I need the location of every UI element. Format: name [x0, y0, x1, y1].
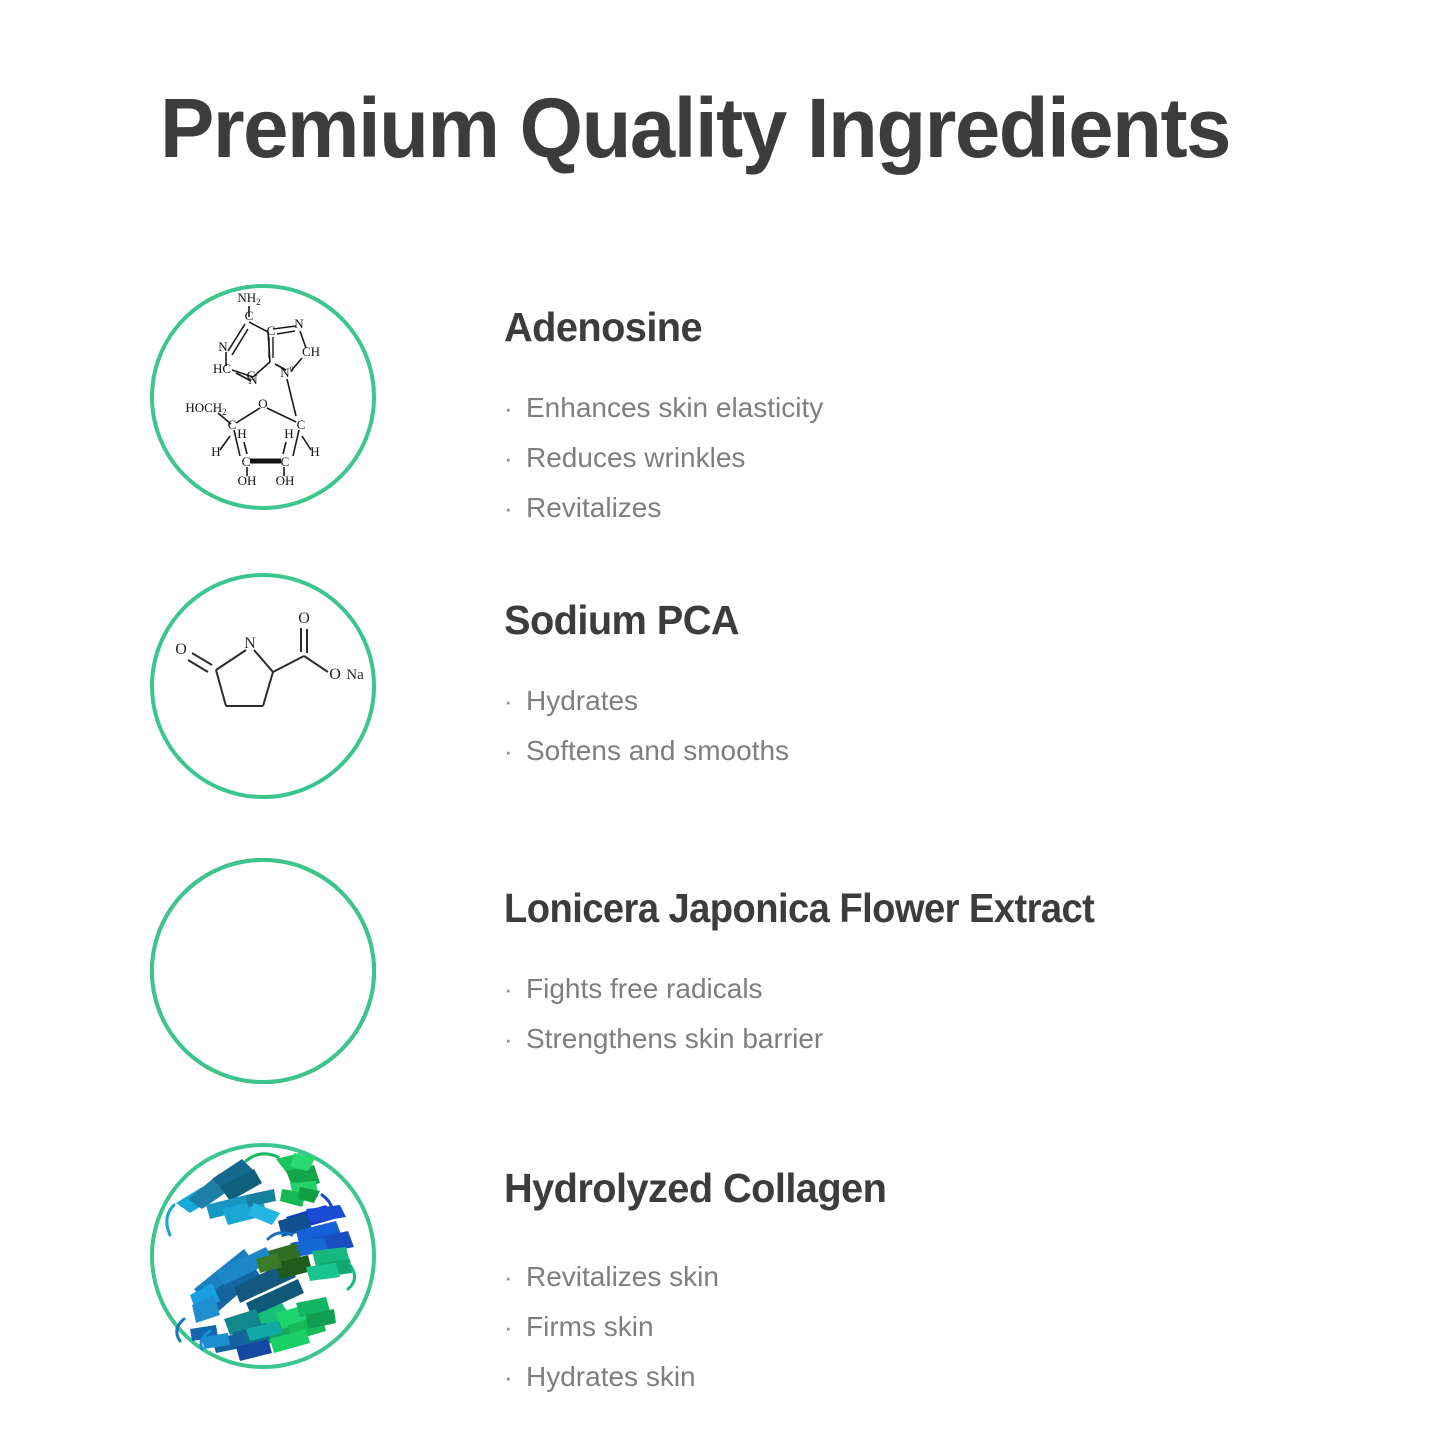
benefit-text: Hydrates [526, 681, 638, 720]
list-item: · Fights free radicals [504, 969, 1364, 1008]
bullet-icon: · [504, 971, 526, 1007]
svg-text:HOCH2: HOCH2 [185, 400, 226, 417]
svg-text:Na: Na [346, 667, 364, 683]
svg-text:C: C [297, 417, 306, 432]
svg-text:O: O [258, 396, 267, 411]
bullet-icon: · [504, 490, 526, 526]
svg-text:NH2: NH2 [237, 290, 260, 307]
svg-text:CH: CH [302, 344, 320, 359]
list-item: · Enhances skin elasticity [504, 388, 1364, 427]
collagen-text: Hydrolyzed Collagen · Revitalizes skin ·… [504, 1166, 1364, 1408]
page-title: Premium Quality Ingredients [160, 84, 1285, 172]
benefit-text: Fights free radicals [526, 969, 763, 1008]
svg-text:N: N [294, 316, 304, 331]
collagen-media [150, 1143, 376, 1369]
adenosine-text: Adenosine · Enhances skin elasticity · R… [504, 305, 1364, 539]
list-item: · Reduces wrinkles [504, 438, 1364, 477]
list-item: · Firms skin [504, 1307, 1364, 1346]
lonicera-media [150, 858, 376, 1084]
collagen-ribbon-icon [150, 1143, 376, 1369]
svg-text:O: O [329, 666, 341, 683]
sodium-pca-media: O N O O Na [150, 573, 376, 799]
svg-text:HC: HC [213, 361, 231, 376]
benefit-text: Revitalizes skin [526, 1257, 719, 1296]
benefit-list: · Revitalizes skin · Firms skin · Hydrat… [504, 1257, 1364, 1397]
list-item: · Revitalizes skin [504, 1257, 1364, 1296]
ingredients-infographic: Premium Quality Ingredients [0, 0, 1445, 1445]
svg-text:O: O [298, 610, 310, 627]
svg-text:H: H [237, 426, 246, 441]
adenosine-media: NH2 N C C C HC N N CH N9 HOCH2 O C C C C [150, 284, 376, 510]
benefit-list: · Fights free radicals · Strengthens ski… [504, 969, 1364, 1058]
svg-text:H: H [211, 444, 220, 459]
svg-text:H: H [284, 426, 293, 441]
bullet-icon: · [504, 440, 526, 476]
ingredient-title: Hydrolyzed Collagen [504, 1166, 1338, 1211]
bullet-icon: · [504, 683, 526, 719]
svg-text:N: N [248, 372, 258, 387]
accent-circle-border [150, 858, 376, 1084]
benefit-text: Firms skin [526, 1307, 654, 1346]
ingredient-title: Lonicera Japonica Flower Extract [504, 886, 1304, 931]
list-item: · Softens and smooths [504, 731, 1364, 770]
adenosine-molecule-icon: NH2 N C C C HC N N CH N9 HOCH2 O C C C C [150, 284, 376, 510]
bullet-icon: · [504, 1259, 526, 1295]
list-item: · Revitalizes [504, 488, 1364, 527]
svg-text:C: C [267, 323, 276, 338]
svg-text:O: O [175, 641, 187, 658]
svg-text:C: C [281, 454, 290, 469]
list-item: · Hydrates skin [504, 1357, 1364, 1396]
svg-text:H: H [310, 444, 319, 459]
svg-text:N: N [218, 339, 228, 354]
benefit-text: Hydrates skin [526, 1357, 696, 1396]
benefit-text: Revitalizes [526, 488, 661, 527]
benefit-text: Enhances skin elasticity [526, 388, 823, 427]
protein-ribbon-diagram [150, 1143, 376, 1369]
svg-text:C: C [245, 308, 254, 323]
svg-text:N9: N9 [280, 365, 293, 380]
benefit-list: · Hydrates · Softens and smooths [504, 681, 1364, 770]
svg-text:OH: OH [238, 473, 257, 488]
benefit-text: Strengthens skin barrier [526, 1019, 823, 1058]
svg-text:N: N [244, 635, 256, 652]
benefit-text: Reduces wrinkles [526, 438, 745, 477]
list-item: · Strengthens skin barrier [504, 1019, 1364, 1058]
svg-text:C: C [228, 417, 237, 432]
bullet-icon: · [504, 1021, 526, 1057]
sodium-pca-text: Sodium PCA · Hydrates · Softens and smoo… [504, 598, 1364, 781]
ingredient-title: Sodium PCA [504, 598, 1338, 643]
list-item: · Hydrates [504, 681, 1364, 720]
bullet-icon: · [504, 1359, 526, 1395]
bullet-icon: · [504, 1309, 526, 1345]
benefit-text: Softens and smooths [526, 731, 789, 770]
benefit-list: · Enhances skin elasticity · Reduces wri… [504, 388, 1364, 528]
sodium-pca-molecule-icon: O N O O Na [150, 573, 376, 799]
ingredient-title: Adenosine [504, 305, 1338, 350]
lonicera-text: Lonicera Japonica Flower Extract · Fight… [504, 886, 1364, 1069]
svg-text:C: C [242, 454, 251, 469]
bullet-icon: · [504, 390, 526, 426]
bullet-icon: · [504, 733, 526, 769]
svg-text:OH: OH [276, 473, 295, 488]
